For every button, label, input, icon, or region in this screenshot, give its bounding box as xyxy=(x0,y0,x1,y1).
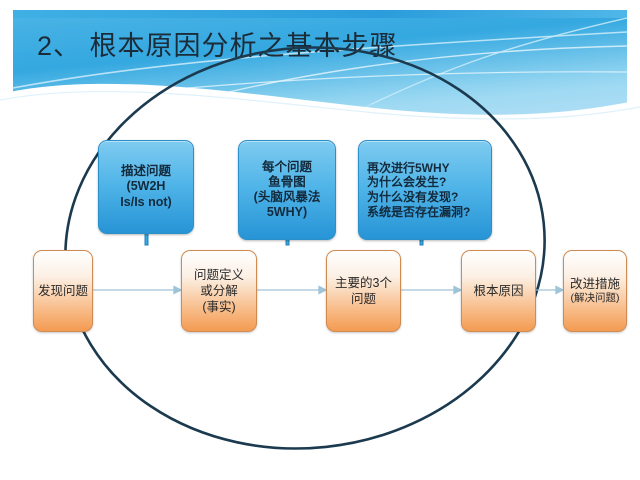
step-line: 主要的3个 xyxy=(335,275,392,291)
method-line: 再次进行5WHY xyxy=(367,161,470,176)
method-line: 5WHY) xyxy=(254,205,321,220)
method-line: Is/Is not) xyxy=(120,195,171,210)
method-box-five-why-again[interactable]: 再次进行5WHY 为什么会发生? 为什么没有发现? 系统是否存在漏洞? xyxy=(358,140,492,240)
step-box-define-or-decompose[interactable]: 问题定义 或分解 (事实) xyxy=(181,250,257,332)
method-line: (头脑风暴法 xyxy=(254,190,321,205)
step-box-improvement-action[interactable]: 改进措施 (解决问题) xyxy=(563,250,627,332)
method-line: 系统是否存在漏洞? xyxy=(367,205,470,220)
step-line: 改进措施 xyxy=(570,276,620,292)
method-line: 描述问题 xyxy=(120,164,171,179)
step-box-root-cause[interactable]: 根本原因 xyxy=(461,250,536,332)
page-title: 2、 根本原因分析之基本步骤 xyxy=(37,24,398,63)
method-line: (5W2H xyxy=(120,179,171,194)
step-line: 发现问题 xyxy=(38,283,88,299)
method-box-describe-problem[interactable]: 描述问题 (5W2H Is/Is not) xyxy=(98,140,194,234)
slide-canvas: 2、 根本原因分析之基本步骤 描述问题 (5W2H Is/Is not) xyxy=(0,0,640,480)
step-line: 或分解 xyxy=(194,283,244,299)
slide-header-banner: 2、 根本原因分析之基本步骤 xyxy=(13,10,627,118)
step-line: (事实) xyxy=(194,299,244,315)
method-line: 鱼骨图 xyxy=(254,175,321,190)
step-line: 问题定义 xyxy=(194,267,244,283)
step-line: 根本原因 xyxy=(473,283,523,299)
step-box-find-problem[interactable]: 发现问题 xyxy=(33,250,93,332)
method-line: 每个问题 xyxy=(254,160,321,175)
step-box-main-three-problems[interactable]: 主要的3个 问题 xyxy=(326,250,401,332)
method-line: 为什么会发生? xyxy=(367,175,470,190)
method-box-fishbone[interactable]: 每个问题 鱼骨图 (头脑风暴法 5WHY) xyxy=(238,140,336,240)
method-line: 为什么没有发现? xyxy=(367,190,470,205)
step-line: (解决问题) xyxy=(570,292,620,306)
step-line: 问题 xyxy=(335,291,392,307)
